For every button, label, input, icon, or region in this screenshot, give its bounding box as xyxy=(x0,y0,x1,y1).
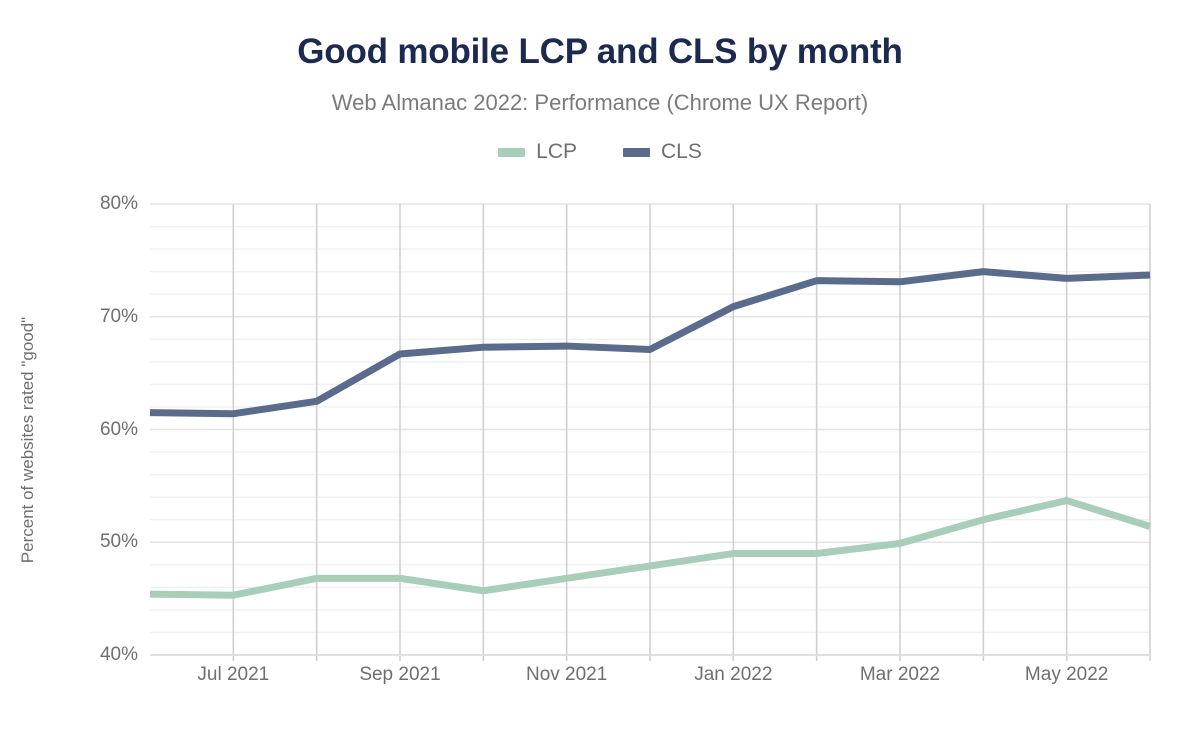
x-tick-label: Nov 2021 xyxy=(487,664,647,686)
x-tick-label: May 2022 xyxy=(987,664,1147,686)
y-tick-label: 70% xyxy=(68,306,138,328)
x-tick-label: Jul 2021 xyxy=(153,664,313,686)
x-tick-label: Mar 2022 xyxy=(820,664,980,686)
chart-canvas xyxy=(0,0,1200,742)
y-tick-label: 40% xyxy=(68,644,138,666)
y-tick-label: 50% xyxy=(68,531,138,553)
x-tick-label: Sep 2021 xyxy=(320,664,480,686)
y-tick-label: 80% xyxy=(68,193,138,215)
y-tick-label: 60% xyxy=(68,419,138,441)
x-tick-label: Jan 2022 xyxy=(653,664,813,686)
chart-figure: Good mobile LCP and CLS by month Web Alm… xyxy=(0,0,1200,742)
plot-area: Percent of websites rated "good" 40%50%6… xyxy=(0,0,1200,742)
